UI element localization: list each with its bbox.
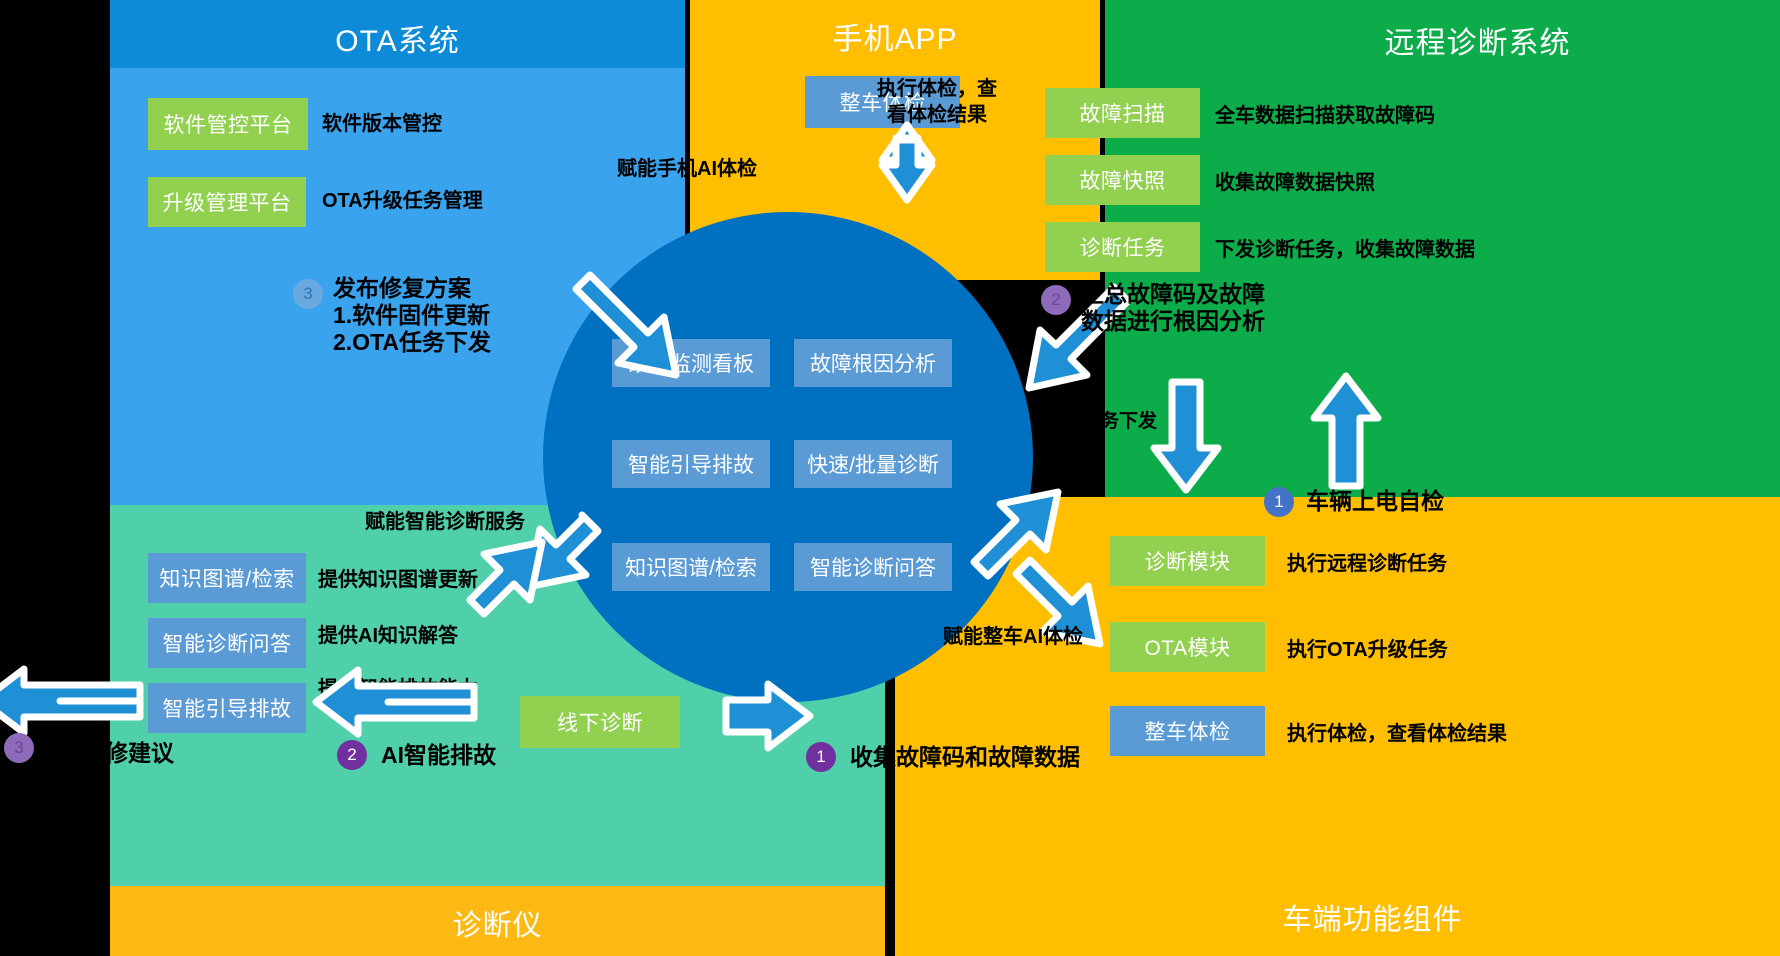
step-repair-badge: 3 (4, 733, 34, 763)
diag-item-1-desc: 提供AI知识解答 (318, 624, 458, 649)
vehicle-item-1-desc: 执行OTA升级任务 (1287, 638, 1448, 663)
ota-item-0-desc: 软件版本管控 (322, 112, 442, 137)
ota-item-1-desc: OTA升级任务管理 (322, 189, 483, 214)
panel-ota-title: OTA系统 (110, 16, 685, 60)
step-ota-fix-line2: 1.软件固件更新 (333, 302, 490, 328)
step-ai-trouble-text: AI智能排故 (381, 742, 496, 769)
step-root-cause-badge: 2 (1041, 285, 1071, 315)
vehicle-item-1-chip[interactable]: OTA模块 (1110, 622, 1265, 672)
center-item-5-chip[interactable]: 智能诊断问答 (794, 543, 952, 591)
step-power-on-badge: 1 (1264, 487, 1294, 517)
panel-app-title: 手机APP (690, 14, 1100, 58)
diag-item-2-chip[interactable]: 智能引导排故 (148, 683, 306, 733)
diag-item-0-desc: 提供知识图谱更新 (318, 568, 478, 593)
center-item-0-chip[interactable]: 故障监测看板 (612, 339, 770, 387)
remote-item-0-chip[interactable]: 故障扫描 (1045, 88, 1200, 138)
vehicle-item-0-chip[interactable]: 诊断模块 (1110, 536, 1265, 586)
center-item-3-chip[interactable]: 快速/批量诊断 (794, 440, 952, 488)
flow-label-diag-dispatch: 诊断任务下发 (1043, 410, 1157, 434)
remote-item-1-desc: 收集故障数据快照 (1215, 171, 1375, 196)
panel-vehicle-components: 车端功能组件 诊断模块 执行远程诊断任务 OTA模块 执行OTA升级任务 整车体… (895, 497, 1780, 956)
ota-item-1-chip[interactable]: 升级管理平台 (148, 177, 306, 227)
panel-diag-title: 诊断仪 (110, 902, 885, 944)
step-root-cause-text: 汇总故障码及故障 数据进行根因分析 (1081, 281, 1265, 335)
remote-item-1-chip[interactable]: 故障快照 (1045, 155, 1200, 205)
center-item-1-chip[interactable]: 故障根因分析 (794, 339, 952, 387)
app-item-0-desc: 执行体检，查看体检结果 (872, 76, 1002, 128)
step-ai-trouble-badge: 2 (337, 740, 367, 770)
vehicle-item-2-desc: 执行体检，查看体检结果 (1287, 722, 1507, 747)
vehicle-item-2-chip[interactable]: 整车体检 (1110, 706, 1265, 756)
step-repair-text: 维修建议 (82, 740, 174, 767)
step-collect-text: 收集故障码和故障数据 (850, 744, 1080, 771)
flow-label-app-ai: 赋能手机AI体检 (617, 157, 757, 182)
step-power-on-text: 车辆上电自检 (1306, 488, 1444, 515)
flow-label-vehicle-ai: 赋能整车AI体检 (943, 625, 1083, 650)
step-root-cause-line2: 数据进行根因分析 (1081, 308, 1265, 334)
step-ota-fix-text: 发布修复方案 1.软件固件更新 2.OTA任务下发 (333, 275, 491, 356)
step-ota-fix-line1: 发布修复方案 (333, 275, 471, 301)
diag-item-0-chip[interactable]: 知识图谱/检索 (148, 553, 306, 603)
remote-item-0-desc: 全车数据扫描获取故障码 (1215, 104, 1435, 129)
step-root-cause-line1: 汇总故障码及故障 (1081, 281, 1265, 307)
vehicle-item-0-desc: 执行远程诊断任务 (1287, 552, 1447, 577)
center-item-4-chip[interactable]: 知识图谱/检索 (612, 543, 770, 591)
diag-offline-chip[interactable]: 线下诊断 (520, 696, 680, 748)
remote-item-2-chip[interactable]: 诊断任务 (1045, 222, 1200, 272)
panel-remote-diagnosis: 远程诊断系统 故障扫描 全车数据扫描获取故障码 故障快照 收集故障数据快照 诊断… (1105, 0, 1780, 497)
center-item-2-chip[interactable]: 智能引导排故 (612, 440, 770, 488)
diagram-canvas: OTA系统 软件管控平台 软件版本管控 升级管理平台 OTA升级任务管理 手机A… (0, 0, 1780, 956)
step-collect-badge: 1 (806, 742, 836, 772)
step-ota-fix-badge: 3 (293, 279, 323, 309)
ota-item-0-chip[interactable]: 软件管控平台 (148, 98, 308, 150)
panel-vehicle-title: 车端功能组件 (895, 896, 1780, 938)
panel-remote-title: 远程诊断系统 (1105, 18, 1780, 62)
step-ota-fix-line3: 2.OTA任务下发 (333, 329, 491, 355)
flow-label-diag-service: 赋能智能诊断服务 (365, 510, 525, 535)
diag-item-2-desc: 提供智能排故能力 (318, 677, 478, 702)
remote-item-2-desc: 下发诊断任务，收集故障数据 (1215, 238, 1475, 263)
diag-item-1-chip[interactable]: 智能诊断问答 (148, 618, 306, 668)
